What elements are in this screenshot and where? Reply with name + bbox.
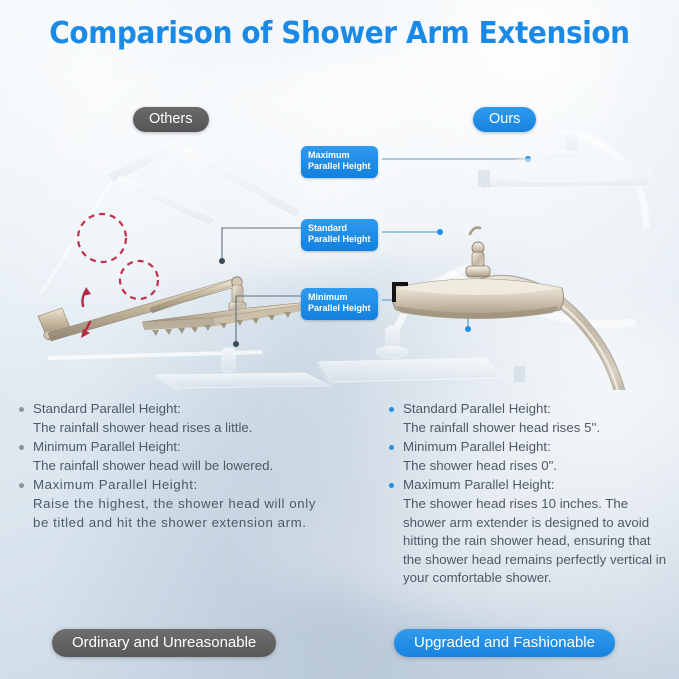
callout-standard-line2: Parallel Height bbox=[308, 234, 371, 244]
bullet-heading: Minimum Parallel Height: bbox=[403, 438, 668, 457]
list-item: Minimum Parallel Height: The shower head… bbox=[388, 438, 668, 475]
bullet-body: Raise the highest, the shower head will … bbox=[33, 495, 336, 532]
bullet-heading: Minimum Parallel Height: bbox=[33, 438, 336, 457]
infographic-page: Comparison of Shower Arm Extension Other… bbox=[0, 0, 679, 679]
others-ghost-minimum-position bbox=[48, 348, 330, 390]
ours-feature-list: Standard Parallel Height: The rainfall s… bbox=[388, 400, 668, 589]
callout-standard-parallel-height: Standard Parallel Height bbox=[301, 219, 378, 251]
red-dashed-circle-upper bbox=[78, 214, 126, 262]
list-item: Maximum Parallel Height: Raise the highe… bbox=[18, 476, 336, 532]
ours-swivel-joint bbox=[466, 228, 490, 277]
page-title: Comparison of Shower Arm Extension bbox=[24, 16, 655, 51]
callout-maximum-line1: Maximum bbox=[308, 150, 350, 160]
callout-standard-line1: Standard bbox=[308, 223, 347, 233]
ours-shower-head bbox=[392, 279, 564, 319]
leader-standard-left bbox=[222, 228, 301, 260]
callout-minimum-line2: Parallel Height bbox=[308, 303, 371, 313]
list-item: Maximum Parallel Height: The shower head… bbox=[388, 476, 668, 588]
others-main-arm bbox=[38, 277, 331, 341]
bullet-body: The shower head rises 0". bbox=[403, 457, 668, 476]
list-item: Minimum Parallel Height: The rainfall sh… bbox=[18, 438, 336, 475]
leader-dot-minimum-right bbox=[465, 326, 471, 332]
others-product-illustration bbox=[38, 138, 331, 390]
bullet-heading: Standard Parallel Height: bbox=[403, 400, 668, 419]
callout-minimum-parallel-height: Minimum Parallel Height bbox=[301, 288, 378, 320]
bullet-body: The rainfall shower head rises 5''. bbox=[403, 419, 668, 438]
callout-maximum-parallel-height: Maximum Parallel Height bbox=[301, 146, 378, 178]
list-item: Standard Parallel Height: The rainfall s… bbox=[18, 400, 336, 437]
ours-ghost-maximum-position bbox=[478, 130, 654, 226]
red-dashed-circle-lower bbox=[120, 261, 158, 299]
callout-minimum-line1: Minimum bbox=[308, 292, 348, 302]
leader-dot-minimum-left bbox=[233, 341, 239, 347]
bullet-body: The shower head rises 10 inches. The sho… bbox=[403, 495, 668, 588]
banner-ordinary-and-unreasonable: Ordinary and Unreasonable bbox=[52, 629, 276, 657]
others-ghost-maximum-position bbox=[40, 138, 300, 295]
bullet-body: The rainfall shower head will be lowered… bbox=[33, 457, 336, 476]
callout-maximum-line2: Parallel Height bbox=[308, 161, 371, 171]
banner-upgraded-and-fashionable: Upgraded and Fashionable bbox=[394, 629, 615, 657]
bullet-heading: Maximum Parallel Height: bbox=[33, 476, 336, 495]
badge-ours: Ours bbox=[473, 107, 536, 132]
bullet-heading: Standard Parallel Height: bbox=[33, 400, 336, 419]
leader-dot-standard-left bbox=[219, 258, 225, 264]
list-item: Standard Parallel Height: The rainfall s… bbox=[388, 400, 668, 437]
leader-dot-standard-right bbox=[437, 229, 443, 235]
badge-others: Others bbox=[133, 107, 209, 132]
others-feature-list: Standard Parallel Height: The rainfall s… bbox=[18, 400, 336, 533]
bullet-body: The rainfall shower head rises a little. bbox=[33, 419, 336, 438]
bullet-heading: Maximum Parallel Height: bbox=[403, 476, 668, 495]
